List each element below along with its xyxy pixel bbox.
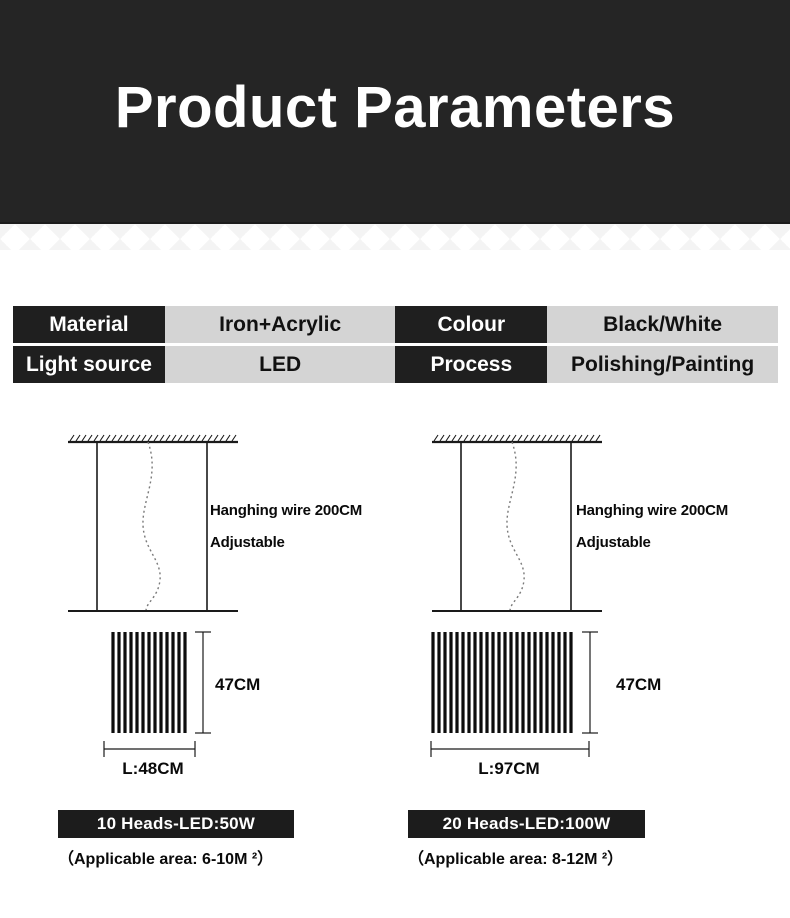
lamp-bar-group: [433, 632, 571, 733]
length-dimension-label: L:97CM: [430, 760, 588, 777]
length-dimension-line: [104, 741, 195, 757]
spec-key-material: Material: [13, 306, 165, 343]
wire-note-adjustable: Adjustable: [210, 535, 285, 550]
length-dimension-line: [431, 741, 589, 757]
diagram-drawing-right: [378, 420, 790, 918]
applicable-area-note: （Applicable area: 6-10M ²）: [58, 852, 273, 868]
spec-value-colour: Black/White: [547, 306, 778, 343]
head-count-badge: 20 Heads-LED:100W: [408, 810, 645, 838]
length-dimension-label: L:48CM: [103, 760, 203, 777]
height-dimension-line: [195, 632, 211, 733]
diagram-drawing-left: [0, 420, 395, 918]
spec-key-process: Process: [395, 346, 547, 383]
page-header-banner: Product Parameters: [0, 0, 790, 222]
table-row: Light source LED Process Polishing/Paint…: [13, 346, 778, 383]
page-title: Product Parameters: [0, 0, 790, 222]
height-dimension-label: 47CM: [215, 676, 260, 693]
product-parameters-table: Material Iron+Acrylic Colour Black/White…: [13, 303, 778, 386]
spec-key-colour: Colour: [395, 306, 547, 343]
spec-value-process: Polishing/Painting: [547, 346, 778, 383]
head-count-badge: 10 Heads-LED:50W: [58, 810, 294, 838]
diagram-unit-20-heads: Hanghing wire 200CM Adjustable 47CM L:97…: [378, 420, 773, 918]
spec-key-light-source: Light source: [13, 346, 165, 383]
product-dimension-diagrams: Hanghing wire 200CM Adjustable 47CM L:48…: [0, 420, 790, 918]
ceiling-hatch-icon: [70, 435, 236, 441]
wire-note-adjustable: Adjustable: [576, 535, 651, 550]
diagram-unit-10-heads: Hanghing wire 200CM Adjustable 47CM L:48…: [0, 420, 395, 918]
decorative-texture-strip: [0, 224, 790, 250]
adjustable-cable-path: [143, 442, 160, 611]
lamp-bar-group: [113, 632, 185, 733]
height-dimension-label: 47CM: [616, 676, 661, 693]
wire-note-length: Hanghing wire 200CM: [576, 503, 728, 518]
spec-value-light-source: LED: [165, 346, 396, 383]
height-dimension-line: [582, 632, 598, 733]
table-row: Material Iron+Acrylic Colour Black/White: [13, 306, 778, 343]
spec-value-material: Iron+Acrylic: [165, 306, 396, 343]
applicable-area-note: （Applicable area: 8-12M ²）: [408, 852, 623, 868]
adjustable-cable-path: [507, 442, 524, 611]
ceiling-hatch-icon: [434, 435, 600, 441]
wire-note-length: Hanghing wire 200CM: [210, 503, 362, 518]
